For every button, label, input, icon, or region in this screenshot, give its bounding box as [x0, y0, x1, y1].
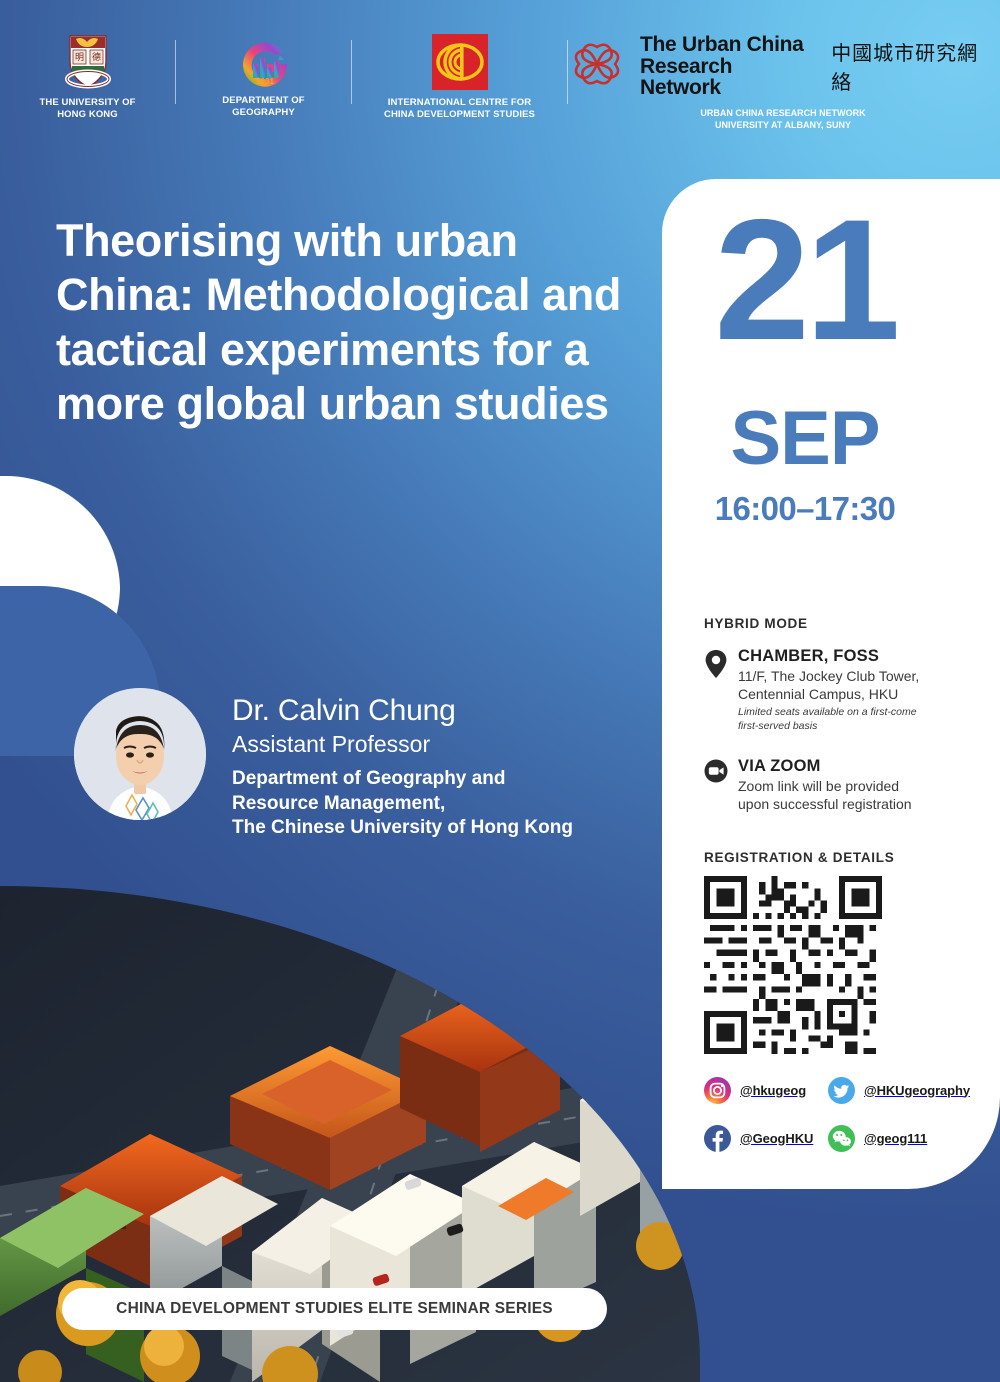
ucrn-wordmark: The Urban China Research Network [640, 34, 817, 99]
social-links: @hkugeog @HKUgeography [704, 1071, 962, 1157]
svg-text:明: 明 [74, 52, 83, 63]
instagram-icon [704, 1077, 731, 1104]
geography-g-icon: 1931 [237, 34, 291, 88]
venue-seat-note: Limited seats available on a first-come … [738, 706, 919, 733]
zoom-title: VIA ZOOM [738, 757, 912, 775]
logo-iccds-caption: INTERNATIONAL CENTRE FOR CHINA DEVELOPME… [384, 97, 535, 121]
left-decor-notch-top [0, 476, 120, 590]
ucrn-wordmark-line2: Research Network [640, 56, 817, 99]
seminar-poster: 明 德 THE UNIVERSITY OF HONG KONG [0, 0, 1000, 1382]
speaker-block: Dr. Calvin Chung Assistant Professor Dep… [74, 688, 644, 840]
ucrn-knot-icon [568, 39, 626, 94]
speaker-name: Dr. Calvin Chung [232, 694, 573, 728]
series-banner: CHINA DEVELOPMENT STUDIES ELITE SEMINAR … [62, 1288, 607, 1330]
location-pin-icon [704, 647, 728, 733]
social-link-facebook[interactable]: @GeogHKU [704, 1125, 828, 1152]
logo-hku: 明 德 THE UNIVERSITY OF HONG KONG [0, 34, 175, 121]
event-day: 21 [662, 205, 948, 356]
twitter-icon [828, 1077, 855, 1104]
avatar [74, 688, 206, 820]
social-link-instagram[interactable]: @hkugeog [704, 1077, 828, 1104]
registration-heading: REGISTRATION & DETAILS [704, 850, 894, 865]
speaker-role: Assistant Professor [232, 730, 573, 760]
ucrn-caption: URBAN CHINA RESEARCH NETWORK UNIVERSITY … [700, 108, 865, 131]
video-camera-icon [704, 757, 728, 813]
logo-geography-caption: DEPARTMENT OF GEOGRAPHY [222, 95, 304, 119]
page-title: Theorising with urban China: Methodologi… [56, 214, 656, 432]
logo-geography: 1931 DEPARTMENT OF GEOGRAPHY [176, 34, 351, 119]
hku-crest-icon: 明 德 [62, 34, 114, 90]
event-month: SEP [662, 401, 948, 477]
series-banner-label: CHINA DEVELOPMENT STUDIES ELITE SEMINAR … [116, 1300, 553, 1318]
svg-text:德: 德 [91, 51, 100, 63]
zoom-row: VIA ZOOM Zoom link will be provided upon… [704, 757, 956, 813]
ucrn-chinese-name: 中國城市研究網絡 [831, 37, 998, 95]
ucrn-wordmark-line1: The Urban China [640, 34, 817, 56]
social-link-twitter[interactable]: @HKUgeography [828, 1077, 962, 1104]
venue-row: CHAMBER, FOSS 11/F, The Jockey Club Towe… [704, 647, 956, 733]
svg-text:1931: 1931 [256, 77, 274, 86]
hybrid-mode-heading: HYBRID MODE [704, 616, 808, 631]
social-link-wechat[interactable]: @geog111 [828, 1125, 962, 1152]
facebook-icon [704, 1125, 731, 1152]
venue-title: CHAMBER, FOSS [738, 647, 919, 665]
logo-hku-caption: THE UNIVERSITY OF HONG KONG [39, 97, 135, 121]
speaker-affiliation: Department of Geography and Resource Man… [232, 767, 573, 840]
social-handle-instagram: @hkugeog [740, 1083, 806, 1098]
wechat-icon [828, 1125, 855, 1152]
social-handle-twitter: @HKUgeography [864, 1083, 970, 1098]
registration-qr-code[interactable] [704, 876, 882, 1054]
logo-strip: 明 德 THE UNIVERSITY OF HONG KONG [0, 34, 1000, 139]
social-handle-facebook: @GeogHKU [740, 1131, 813, 1146]
logo-ucrn: The Urban China Research Network 中國城市研究網… [568, 34, 998, 131]
zoom-detail: Zoom link will be provided upon successf… [738, 778, 912, 813]
iccds-icon [432, 34, 488, 90]
event-time: 16:00–17:30 [662, 490, 948, 528]
info-card: 21 SEP 16:00–17:30 HYBRID MODE CHAMBER, … [662, 179, 1000, 1189]
logo-iccds: INTERNATIONAL CENTRE FOR CHINA DEVELOPME… [352, 34, 567, 121]
venue-address: 11/F, The Jockey Club Tower, Centennial … [738, 668, 919, 703]
social-handle-wechat: @geog111 [864, 1131, 927, 1146]
